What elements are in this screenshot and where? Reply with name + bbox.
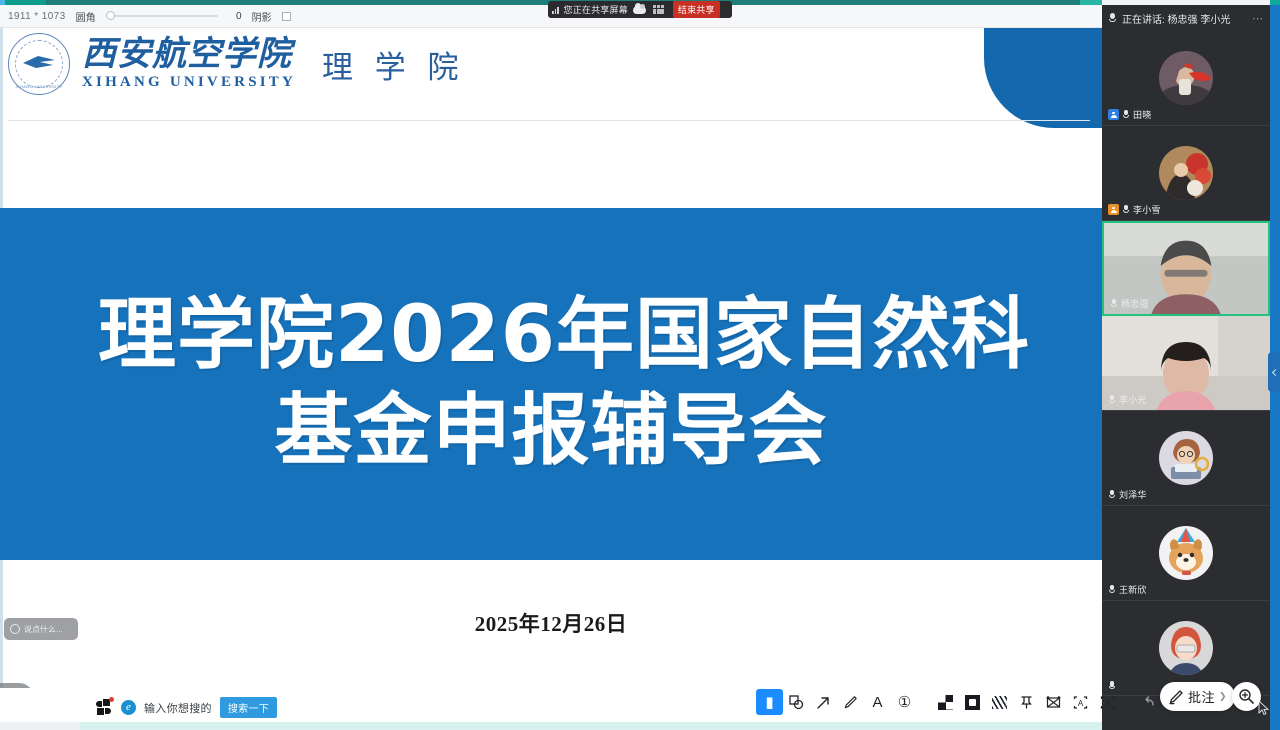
shape-tool[interactable] (783, 689, 810, 715)
mic-status-icon (1122, 110, 1130, 120)
image-dimensions-label: 1911 * 1073 (8, 11, 66, 22)
slider-value: 0 (228, 11, 242, 22)
number-stamp-tool[interactable]: ① (891, 689, 918, 715)
browser-search-strip: 输入你想搜的 搜索一下 (96, 697, 277, 718)
mouse-cursor-icon (1258, 700, 1270, 716)
collapse-panel-icon (1271, 368, 1278, 375)
active-speaker-header: 正在讲话: 杨忠强 李小光 ⋯ (1102, 5, 1270, 31)
zoom-button[interactable] (1232, 682, 1261, 711)
mic-status-icon (1108, 490, 1116, 500)
magnifier-plus-icon (1238, 688, 1255, 705)
arrow-icon (816, 695, 831, 710)
hatch-swatch[interactable] (986, 689, 1013, 715)
select-region-icon (1046, 695, 1061, 710)
pen-icon (1168, 689, 1184, 705)
participant-name: 李小光 (1119, 393, 1147, 406)
avatar (1159, 431, 1213, 485)
slide-title-line-2: 基金申报辅导会 (274, 387, 827, 477)
university-name-en: XIHANG UNIVERSITY (82, 74, 296, 91)
participant-name: 杨忠强 (1121, 297, 1149, 310)
annotate-button[interactable]: 批注 ❯ (1160, 682, 1235, 711)
arrow-tool[interactable] (810, 689, 837, 715)
signal-icon (552, 6, 559, 14)
end-share-button[interactable]: 结束共享 (673, 1, 720, 18)
participant-name: 李小雪 (1133, 203, 1161, 216)
slide-title-line-1: 理学院2026年国家自然科 (98, 291, 1030, 381)
pen-tool[interactable] (837, 689, 864, 715)
solid-swatch[interactable] (959, 689, 986, 715)
comment-bubble-icon (10, 624, 20, 634)
participant-name-tag: 李小雪 (1105, 202, 1164, 217)
participant-name-tag: 田晓 (1105, 107, 1154, 122)
university-logo-row: XIHANG UNIVERSITY 西安航空学院 XIHANG UNIVERSI… (8, 33, 466, 95)
slide-date: 2025年12月26日 (0, 608, 1102, 638)
ocr-icon: A (1073, 695, 1088, 710)
annotate-label: 批注 (1188, 687, 1215, 706)
shadow-label: 阴影 (252, 9, 272, 24)
participant-name: 王新欣 (1119, 583, 1147, 596)
crop-icon: A (1100, 695, 1115, 710)
checker-swatch-icon (938, 695, 953, 710)
host-badge-icon (1108, 109, 1119, 120)
cohost-badge-icon (1108, 204, 1119, 215)
crest-arc-text: XIHANG UNIVERSITY (9, 84, 69, 89)
pen-icon (843, 695, 858, 710)
ocr-tool[interactable]: A (1067, 689, 1094, 715)
mic-status-icon (1108, 585, 1116, 595)
participant-name-tag: 刘泽华 (1105, 487, 1150, 502)
pin-icon (1019, 695, 1034, 710)
slider-knob[interactable] (106, 11, 115, 20)
mic-status-icon (1122, 205, 1130, 215)
university-crest-icon: XIHANG UNIVERSITY (8, 33, 70, 95)
crest-bird-glyph (22, 54, 56, 70)
undo-button[interactable] (1135, 689, 1162, 715)
crop-tool[interactable]: A (1094, 689, 1121, 715)
shape-style-label: 圆角 (76, 9, 96, 24)
notification-dot (109, 697, 114, 702)
department-name: 理 学 院 (322, 42, 466, 87)
avatar-image (1159, 526, 1213, 580)
logo-divider (8, 120, 1090, 121)
highlighter-tool[interactable]: ▮ (756, 689, 783, 715)
solid-swatch-icon (965, 695, 980, 710)
avatar (1159, 51, 1213, 105)
text-icon: A (872, 695, 882, 710)
corner-radius-slider[interactable] (106, 10, 218, 22)
university-name-block: 西安航空学院 XIHANG UNIVERSITY (82, 37, 296, 91)
participant-name: 田晓 (1133, 108, 1151, 121)
number-circle-icon: ① (898, 695, 911, 710)
cloud-icon[interactable] (633, 4, 647, 16)
highlighter-icon: ▮ (765, 695, 773, 710)
sogou-icon[interactable] (96, 699, 113, 716)
university-name-cn: 西安航空学院 (82, 37, 296, 73)
avatar-image (1159, 431, 1213, 485)
screen-share-status-bar: 您正在共享屏幕 结束共享 (548, 1, 732, 18)
avatar-image (1159, 146, 1213, 200)
chevron-right-icon[interactable]: ❯ (1219, 691, 1227, 702)
svg-text:A: A (1105, 699, 1111, 708)
comment-input-chip[interactable]: 说点什么... (4, 618, 78, 640)
annotation-toolbar: ▮ A ① (756, 689, 1162, 715)
hatch-swatch-icon (992, 696, 1007, 709)
participant-video-panel: 正在讲话: 杨忠强 李小光 ⋯ (1102, 5, 1270, 730)
slide-corner-decoration-inner (1022, 28, 1102, 118)
participant-tile[interactable]: 刘泽华 (1102, 411, 1270, 506)
participant-tile[interactable]: 李小光 (1102, 316, 1270, 411)
participant-tile[interactable]: 田晓 (1102, 31, 1270, 126)
avatar (1159, 526, 1213, 580)
active-speaker-text: 正在讲话: 杨忠强 李小光 (1122, 11, 1230, 26)
participant-tile-active-speaker[interactable]: 杨忠强 (1102, 221, 1270, 316)
shape-icon (789, 695, 804, 710)
search-button[interactable]: 搜索一下 (220, 697, 277, 718)
participant-name-tag: 杨忠强 (1107, 296, 1152, 311)
avatar (1159, 146, 1213, 200)
comment-placeholder-text: 说点什么... (24, 624, 63, 635)
mic-status-icon (1108, 395, 1116, 405)
presentation-slide: XIHANG UNIVERSITY 西安航空学院 XIHANG UNIVERSI… (0, 28, 1102, 688)
pin-tool[interactable] (1013, 689, 1040, 715)
undo-icon (1141, 695, 1156, 710)
avatar-image (1159, 51, 1213, 105)
microphone-icon (1108, 13, 1117, 24)
grid-icon[interactable] (652, 4, 666, 16)
taskbar-accent-left (0, 722, 80, 730)
screen-root: 1911 * 1073 圆角 0 阴影 您正在共享屏幕 结束共享 XIHANG … (0, 0, 1280, 730)
slide-title-band: 理学院2026年国家自然科 基金申报辅导会 (0, 208, 1102, 560)
svg-text:A: A (1078, 699, 1084, 708)
taskbar-accent-band (80, 722, 1102, 730)
more-dots-icon[interactable]: ⋯ (1252, 12, 1264, 25)
checker-swatch[interactable] (932, 689, 959, 715)
avatar-image (1159, 621, 1213, 675)
participant-tile[interactable]: 王新欣 (1102, 506, 1270, 601)
avatar-wrap (1102, 601, 1270, 695)
shadow-checkbox[interactable] (282, 12, 291, 21)
search-input[interactable]: 输入你想搜的 (144, 700, 212, 716)
participant-name-tag: 李小光 (1105, 392, 1150, 407)
share-status-text: 您正在共享屏幕 (564, 3, 628, 16)
participant-tile[interactable]: 李小雪 (1102, 126, 1270, 221)
text-tool[interactable]: A (864, 689, 891, 715)
select-region-tool[interactable] (1040, 689, 1067, 715)
collapse-panel-button[interactable] (1268, 352, 1280, 392)
avatar (1159, 621, 1213, 675)
slider-track (106, 15, 218, 17)
mic-status-icon (1110, 299, 1118, 309)
participant-name: 刘泽华 (1119, 488, 1147, 501)
participant-name-tag: 王新欣 (1105, 582, 1150, 597)
ie-icon[interactable] (121, 700, 136, 715)
